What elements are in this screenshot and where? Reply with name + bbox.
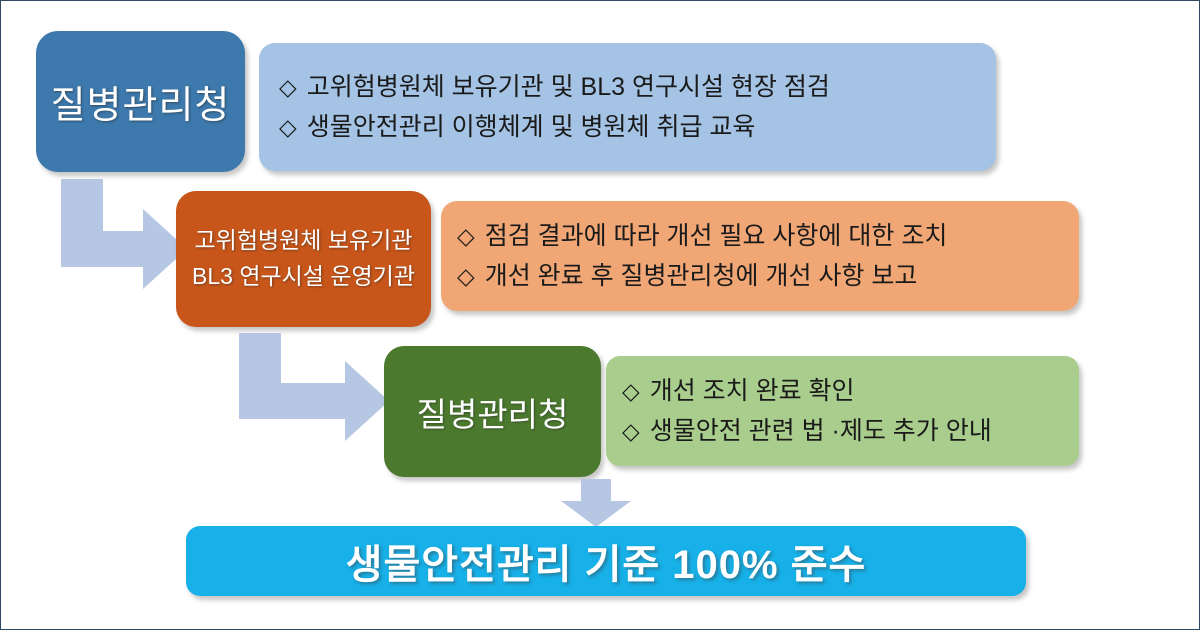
elbow-arrow-blue-to-orange	[53, 179, 189, 294]
bullet-item: ◇ 개선 조치 완료 확인	[622, 371, 1079, 412]
diamond-bullet-icon: ◇	[622, 420, 640, 443]
node-kdca-top-label: 질병관리청	[51, 74, 231, 129]
banner-compliance-goal: 생물안전관리 기준 100% 준수	[186, 526, 1026, 596]
bullet-text: 생물안전관리 이행체계 및 병원체 취급 교육	[307, 107, 756, 148]
bullet-text: 개선 완료 후 질병관리청에 개선 사항 보고	[485, 256, 918, 297]
node-kdca-verify: 질병관리청	[384, 346, 601, 477]
bullet-item: ◇ 점검 결과에 따라 개선 필요 사항에 대한 조치	[457, 216, 1079, 257]
node-line-2: BL3 연구시설 운영기관	[192, 259, 415, 295]
banner-compliance-goal-label: 생물안전관리 기준 100% 준수	[346, 532, 867, 590]
diamond-bullet-icon: ◇	[279, 76, 297, 99]
node-kdca-top: 질병관리청	[36, 31, 245, 172]
node-high-risk-institution: 고위험병원체 보유기관 BL3 연구시설 운영기관	[176, 191, 431, 327]
node-line-1: 고위험병원체 보유기관	[195, 223, 413, 259]
bullet-text: 점검 결과에 따라 개선 필요 사항에 대한 조치	[485, 216, 948, 257]
diamond-bullet-icon: ◇	[622, 380, 640, 403]
bullet-text: 고위험병원체 보유기관 및 BL3 연구시설 현장 점검	[307, 67, 830, 108]
diamond-bullet-icon: ◇	[279, 116, 297, 139]
panel-kdca-tasks: ◇ 고위험병원체 보유기관 및 BL3 연구시설 현장 점검 ◇ 생물안전관리 …	[259, 43, 996, 171]
elbow-arrow-orange-to-green	[233, 333, 393, 445]
bullet-text: 생물안전 관련 법 ·제도 추가 안내	[650, 411, 992, 452]
bullet-item: ◇ 생물안전관리 이행체계 및 병원체 취급 교육	[279, 107, 996, 148]
node-kdca-verify-label: 질병관리청	[417, 388, 569, 436]
bullet-item: ◇ 고위험병원체 보유기관 및 BL3 연구시설 현장 점검	[279, 67, 996, 108]
diamond-bullet-icon: ◇	[457, 265, 475, 288]
diagram-canvas: 질병관리청 ◇ 고위험병원체 보유기관 및 BL3 연구시설 현장 점검 ◇ 생…	[0, 0, 1200, 630]
bullet-text: 개선 조치 완료 확인	[650, 371, 855, 412]
down-arrow-green-to-banner	[557, 479, 635, 529]
panel-kdca-verify-tasks: ◇ 개선 조치 완료 확인 ◇ 생물안전 관련 법 ·제도 추가 안내	[606, 356, 1079, 466]
diamond-bullet-icon: ◇	[457, 225, 475, 248]
bullet-item: ◇ 개선 완료 후 질병관리청에 개선 사항 보고	[457, 256, 1079, 297]
panel-institution-actions: ◇ 점검 결과에 따라 개선 필요 사항에 대한 조치 ◇ 개선 완료 후 질병…	[441, 201, 1079, 311]
bullet-item: ◇ 생물안전 관련 법 ·제도 추가 안내	[622, 411, 1079, 452]
